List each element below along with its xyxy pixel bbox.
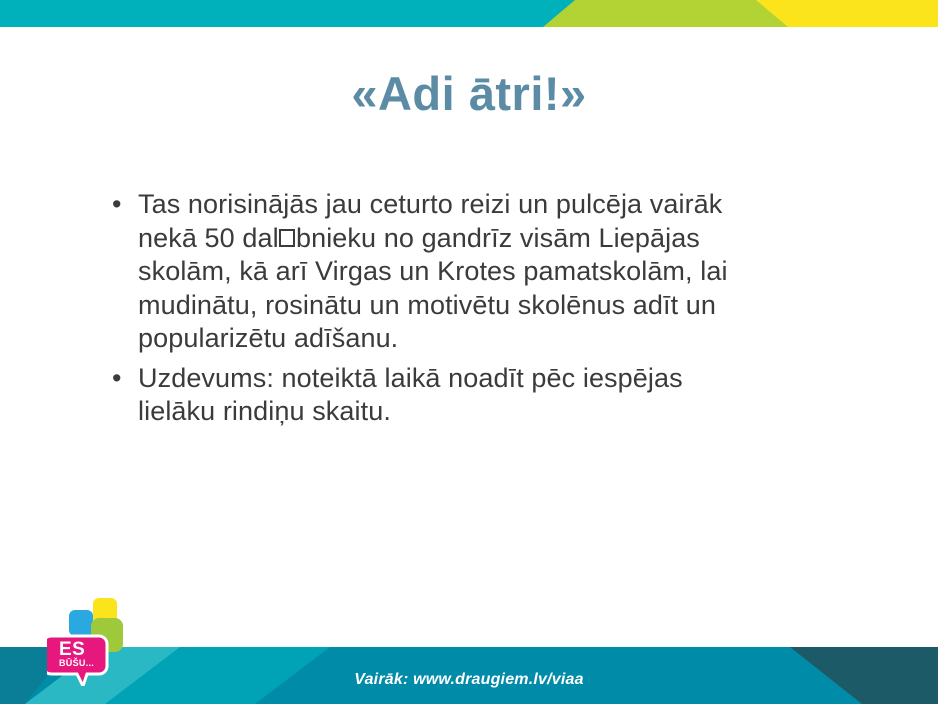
text-line: lielāku rindiņu skaitu. xyxy=(138,395,852,429)
top-banner-shapes xyxy=(0,0,938,27)
text-line: Uzdevums: noteiktā laikā noadīt pēc iesp… xyxy=(138,362,852,396)
missing-glyph-icon xyxy=(279,229,295,247)
banner-yellow-block xyxy=(756,0,938,27)
text-fragment: nekā 50 dal xyxy=(138,223,279,253)
text-line: popularizētu adīšanu. xyxy=(138,322,852,356)
text-line: Tas norisinājās jau ceturto reizi un pul… xyxy=(138,188,852,222)
logo-blue-bubble-icon xyxy=(69,610,93,636)
list-item-text: Uzdevums: noteiktā laikā noadīt pēc iesp… xyxy=(138,362,852,429)
text-fragment: bnieku no gandrīz visām Liepājas xyxy=(296,223,700,253)
list-item-text: Tas norisinājās jau ceturto reizi un pul… xyxy=(138,188,852,356)
bullet-marker-icon: • xyxy=(112,188,138,222)
text-line: nekā 50 dalbnieku no gandrīz visām Liepā… xyxy=(138,222,852,256)
text-line: skolām, kā arī Virgas un Krotes pamatsko… xyxy=(138,255,852,289)
bullet-marker-icon: • xyxy=(112,362,138,396)
logo-es-busu: ES BŪŠU... xyxy=(47,596,142,686)
logo-secondary-text: BŪŠU... xyxy=(59,659,94,668)
list-item: • Uzdevums: noteiktā laikā noadīt pēc ie… xyxy=(112,362,852,429)
banner-left-edge xyxy=(0,0,8,27)
banner-teal-block xyxy=(0,0,600,27)
top-decorative-banner xyxy=(0,0,938,27)
text-line: mudinātu, rosinātu un motivētu skolēnus … xyxy=(138,289,852,323)
list-item: • Tas norisinājās jau ceturto reizi un p… xyxy=(112,188,852,356)
slide: «Adi ātri!» • Tas norisinājās jau ceturt… xyxy=(0,0,938,704)
page-title: «Adi ātri!» xyxy=(0,68,938,120)
content-body: • Tas norisinājās jau ceturto reizi un p… xyxy=(112,188,852,435)
logo-primary-text: ES xyxy=(59,640,85,659)
